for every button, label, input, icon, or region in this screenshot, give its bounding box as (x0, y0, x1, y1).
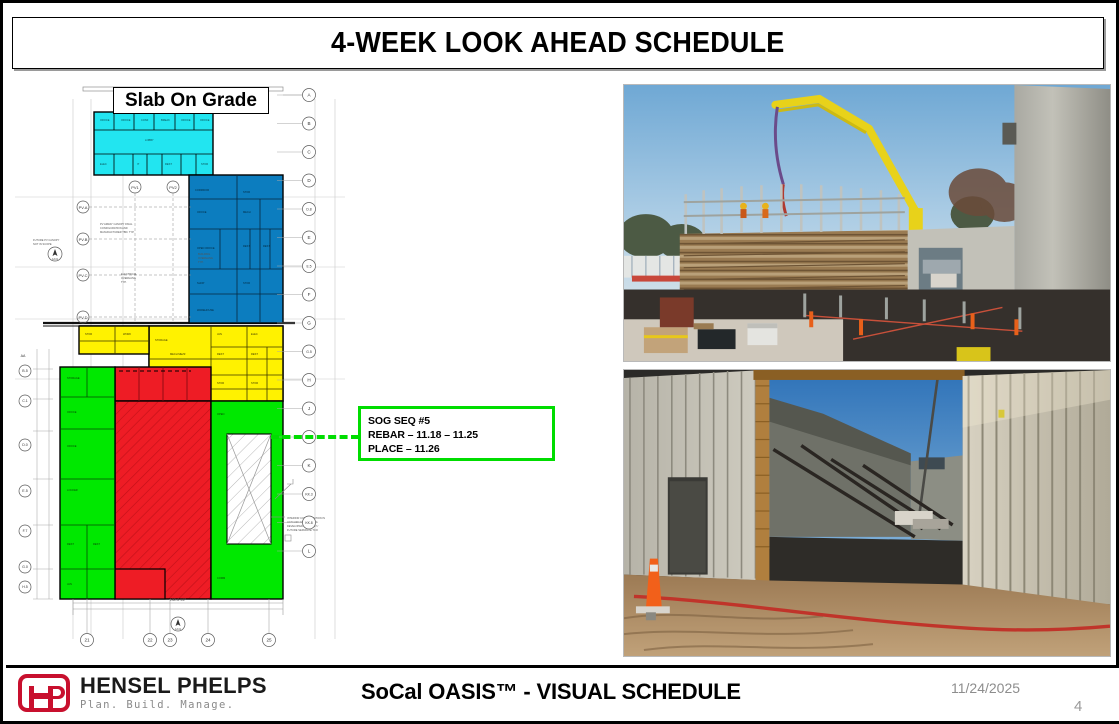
company-name: HENSEL PHELPS (80, 675, 267, 697)
grid-label-F: F (308, 292, 311, 297)
presentation-slide: 4-WEEK LOOK AHEAD SCHEDULE (0, 0, 1119, 724)
grid-label-G: G (307, 321, 311, 326)
slide-title-box: 4-WEEK LOOK AHEAD SCHEDULE (12, 17, 1104, 69)
callout-leader-line (271, 435, 359, 439)
grid-label-L: L (308, 549, 311, 554)
site-photo-tilt-up-walls[interactable] (623, 369, 1111, 657)
site-photo-concrete-pump[interactable] (623, 84, 1111, 362)
grid-label-G.5: G.5 (306, 350, 312, 354)
grid-label-24: 24 (205, 638, 211, 643)
callout-line-1: SOG SEQ #5 (368, 414, 552, 428)
photo-bottom-graphic (624, 370, 1110, 656)
company-tagline: Plan. Build. Manage. (80, 700, 267, 711)
grid-label-23: 23 (167, 638, 173, 643)
slide-page-number: 4 (1074, 698, 1082, 715)
page-title: 4-WEEK LOOK AHEAD SCHEDULE (331, 27, 784, 60)
grid-label-21: 21 (84, 638, 90, 643)
grid-label-E.5: E.5 (306, 265, 311, 269)
grid-label-25: 25 (266, 638, 272, 643)
grid-bubble-layer: ABCDD.8EE.5FGG.5HJJ.2KKK.3KK.8L212223242… (15, 79, 345, 655)
floor-plan-drawing[interactable]: OFFICEOFFICE CONFBREAK OFFICEOFFICE LOBB… (15, 79, 345, 655)
grid-label-22: 22 (147, 638, 153, 643)
company-logo: HENSEL PHELPS Plan. Build. Manage. (18, 674, 267, 712)
project-title: SoCal OASIS™ - VISUAL SCHEDULE (361, 679, 741, 705)
grid-label-E: E (307, 235, 310, 240)
sog-sequence-callout[interactable]: SOG SEQ #5 REBAR – 11.18 – 11.25 PLACE –… (358, 406, 555, 461)
slide-footer: HENSEL PHELPS Plan. Build. Manage. SoCal… (6, 668, 1119, 721)
grid-label-J: J (308, 406, 310, 411)
grid-label-H: H (307, 378, 310, 383)
grid-label-KK.8: KK.8 (305, 521, 312, 525)
plan-title-label: Slab On Grade (113, 87, 269, 114)
callout-line-3: PLACE – 11.26 (368, 442, 552, 456)
grid-label-B: B (307, 121, 310, 126)
callout-line-2: REBAR – 11.18 – 11.25 (368, 428, 552, 442)
photo-top-graphic (624, 85, 1110, 361)
slide-date: 11/24/2025 (951, 680, 1020, 696)
grid-label-KK.3: KK.3 (305, 493, 312, 497)
hensel-phelps-hp-icon (18, 674, 70, 712)
grid-label-D.8: D.8 (306, 208, 311, 212)
